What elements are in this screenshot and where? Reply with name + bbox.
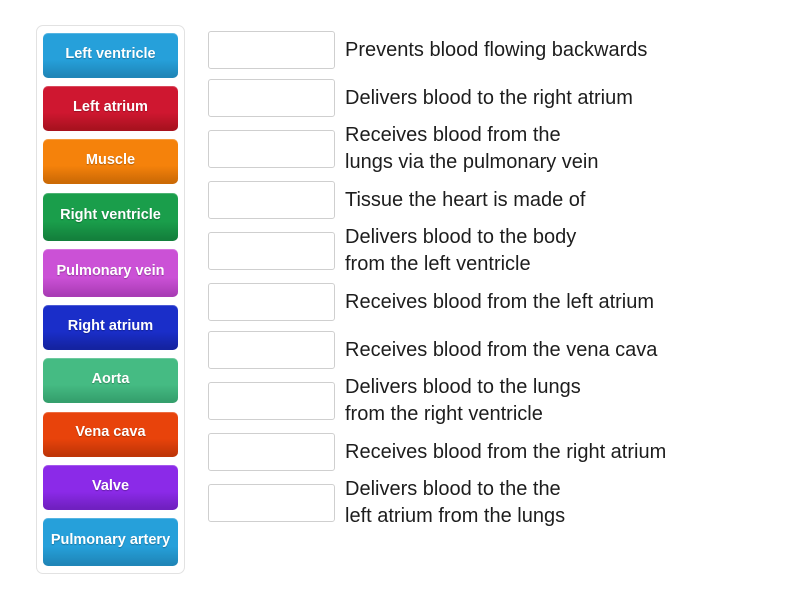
answer-row: Delivers blood to the right atrium [208, 74, 788, 122]
answer-row: Delivers blood to the body from the left… [208, 224, 788, 278]
draggable-tile-muscle[interactable]: Muscle [43, 139, 178, 184]
drop-zone[interactable] [208, 484, 335, 522]
answer-row: Delivers blood to the the left atrium fr… [208, 476, 788, 530]
row-description: Delivers blood to the lungs from the rig… [345, 374, 581, 427]
tile-label: Right ventricle [60, 207, 161, 224]
answer-row: Delivers blood to the lungs from the rig… [208, 374, 788, 428]
row-description: Receives blood from the vena cava [345, 337, 657, 364]
tile-label: Pulmonary vein [57, 263, 165, 280]
drop-zone[interactable] [208, 382, 335, 420]
draggable-tile-pulmonary-artery[interactable]: Pulmonary artery [43, 518, 178, 566]
answer-row: Receives blood from the left atrium [208, 278, 788, 326]
drop-zone[interactable] [208, 433, 335, 471]
tile-label: Left atrium [73, 99, 148, 116]
row-description: Delivers blood to the right atrium [345, 85, 633, 112]
tile-label: Left ventricle [65, 46, 155, 63]
row-description: Receives blood from the left atrium [345, 289, 654, 316]
draggable-tile-pulmonary-vein[interactable]: Pulmonary vein [43, 249, 178, 297]
drop-zone[interactable] [208, 31, 335, 69]
answer-row: Tissue the heart is made of [208, 176, 788, 224]
answer-rows-list: Prevents blood flowing backwardsDelivers… [208, 26, 788, 530]
draggable-tile-left-ventricle[interactable]: Left ventricle [43, 33, 178, 78]
tile-label: Pulmonary artery [51, 532, 170, 549]
row-description: Receives blood from the right atrium [345, 439, 666, 466]
drop-zone[interactable] [208, 130, 335, 168]
drop-zone[interactable] [208, 232, 335, 270]
draggable-tile-valve[interactable]: Valve [43, 465, 178, 510]
tile-label: Muscle [86, 152, 135, 169]
draggable-tile-vena-cava[interactable]: Vena cava [43, 412, 178, 457]
row-description: Receives blood from the lungs via the pu… [345, 122, 598, 175]
draggable-tile-right-ventricle[interactable]: Right ventricle [43, 193, 178, 241]
drop-zone[interactable] [208, 283, 335, 321]
tile-label: Right atrium [68, 318, 153, 335]
tile-label: Vena cava [75, 424, 145, 441]
draggable-tile-left-atrium[interactable]: Left atrium [43, 86, 178, 131]
tile-label: Valve [92, 478, 129, 495]
answer-row: Receives blood from the vena cava [208, 326, 788, 374]
answer-row: Receives blood from the lungs via the pu… [208, 122, 788, 176]
draggable-tile-aorta[interactable]: Aorta [43, 358, 178, 403]
row-description: Delivers blood to the the left atrium fr… [345, 476, 565, 529]
drop-zone[interactable] [208, 181, 335, 219]
draggable-tile-right-atrium[interactable]: Right atrium [43, 305, 178, 350]
row-description: Delivers blood to the body from the left… [345, 224, 576, 277]
drop-zone[interactable] [208, 331, 335, 369]
draggable-tile-bank[interactable]: Left ventricleLeft atriumMuscleRight ven… [36, 25, 185, 574]
answer-row: Prevents blood flowing backwards [208, 26, 788, 74]
tile-label: Aorta [92, 371, 130, 388]
row-description: Prevents blood flowing backwards [345, 37, 647, 64]
drop-zone[interactable] [208, 79, 335, 117]
match-up-activity: Left ventricleLeft atriumMuscleRight ven… [0, 0, 800, 600]
answer-row: Receives blood from the right atrium [208, 428, 788, 476]
row-description: Tissue the heart is made of [345, 187, 586, 214]
